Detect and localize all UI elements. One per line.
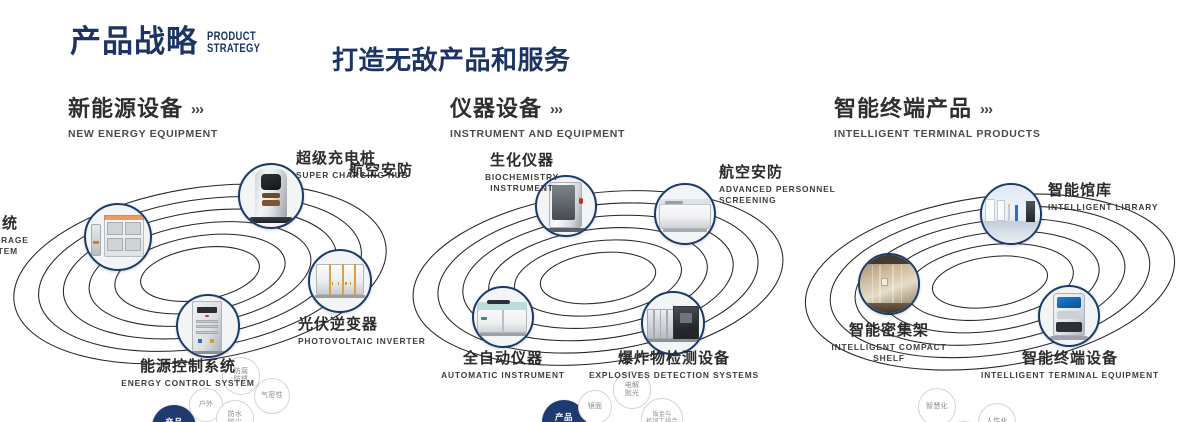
poster-title-block: 产品战略 PRODUCT STRATEGY (70, 26, 272, 57)
feature-bubble-mirror-finish: 镜面 (578, 390, 612, 422)
node-label-terminal-kiosk: 智能终端设备 INTELLIGENT TERMINAL EQUIPMENT (972, 350, 1168, 381)
node-intelligent-library[interactable] (980, 183, 1042, 245)
node-label-energy-control-system: 能源控制系统 ENERGY CONTROL SYSTEM (88, 358, 288, 389)
section-heading-instrument: 仪器设备››› INSTRUMENT AND EQUIPMENT (450, 96, 625, 140)
node-label-explosives-detection: 爆炸物检测设备 EXPLOSIVES DETECTION SYSTEMS (578, 350, 770, 381)
cluster-instrument: 产品 特点 镜面 电解抛光 钣金与机加工结合 零缺陷 航空安防 生化仪器 BI (398, 150, 798, 410)
node-terminal-kiosk[interactable] (1038, 285, 1100, 347)
node-super-charging-hub[interactable] (238, 163, 304, 229)
chevrons-icon: ››› (550, 97, 562, 123)
node-label-automatic-instrument: 全自动仪器 AUTOMATIC INSTRUMENT (416, 350, 590, 381)
section-heading-cn: 仪器设备››› (450, 96, 625, 123)
poster-title-en: PRODUCT STRATEGY (207, 31, 260, 55)
chevrons-icon: ››› (191, 97, 203, 123)
node-personnel-screening[interactable] (654, 183, 716, 245)
poster-title-en-line1: PRODUCT (207, 31, 260, 43)
node-energy-control-system[interactable] (176, 294, 240, 358)
cluster-new-energy: 产品 特点 户外 防腐防锈 防水防尘 气密性 (0, 150, 400, 410)
poster-title-en-line2: STRATEGY (207, 43, 260, 55)
node-energy-storage-system[interactable] (84, 203, 152, 271)
node-label-energy-storage-system: 储能系统 ENERGY STORAGE SYSTEM (0, 215, 18, 257)
section-heading-intelligent-terminal: 智能终端产品››› INTELLIGENT TERMINAL PRODUCTS (834, 96, 1041, 140)
section-heading-cn: 智能终端产品››› (834, 96, 1041, 123)
node-label-aviation-security-left: 航空安防 (328, 162, 413, 180)
feature-bubble-intelligentization: 智慧化 (918, 388, 956, 422)
poster-title-cn: 产品战略 (70, 26, 198, 57)
node-compact-shelf[interactable] (858, 253, 920, 315)
node-explosives-detection[interactable] (641, 291, 705, 355)
section-heading-new-energy: 新能源设备››› NEW ENERGY EQUIPMENT (68, 96, 218, 140)
node-label-intelligent-library: 智能馆库 INTELLIGENT LIBRARY (1048, 182, 1158, 213)
node-automatic-instrument[interactable] (472, 286, 534, 348)
poster-canvas: 产品战略 PRODUCT STRATEGY 打造无敌产品和服务 新能源设备›››… (0, 0, 1200, 422)
node-label-compact-shelf: 智能密集架 INTELLIGENT COMPACT SHELF (810, 322, 968, 364)
chevrons-icon: ››› (980, 97, 992, 123)
poster-subtitle: 打造无敌产品和服务 (332, 40, 571, 77)
section-heading-en: NEW ENERGY EQUIPMENT (68, 128, 218, 140)
cluster-intelligent-terminal: 智慧化 数字化 人性化 产品 特点 智能馆库 INTELLIGENT LIBRA… (790, 150, 1190, 410)
section-heading-en: INTELLIGENT TERMINAL PRODUCTS (834, 128, 1041, 140)
section-heading-en: INSTRUMENT AND EQUIPMENT (450, 128, 625, 140)
section-heading-cn: 新能源设备››› (68, 96, 218, 123)
node-label-biochemistry-instrument: 生化仪器 BIOCHEMISTRY INSTRUMENT (464, 152, 580, 194)
node-photovoltaic-inverter[interactable] (308, 249, 372, 313)
